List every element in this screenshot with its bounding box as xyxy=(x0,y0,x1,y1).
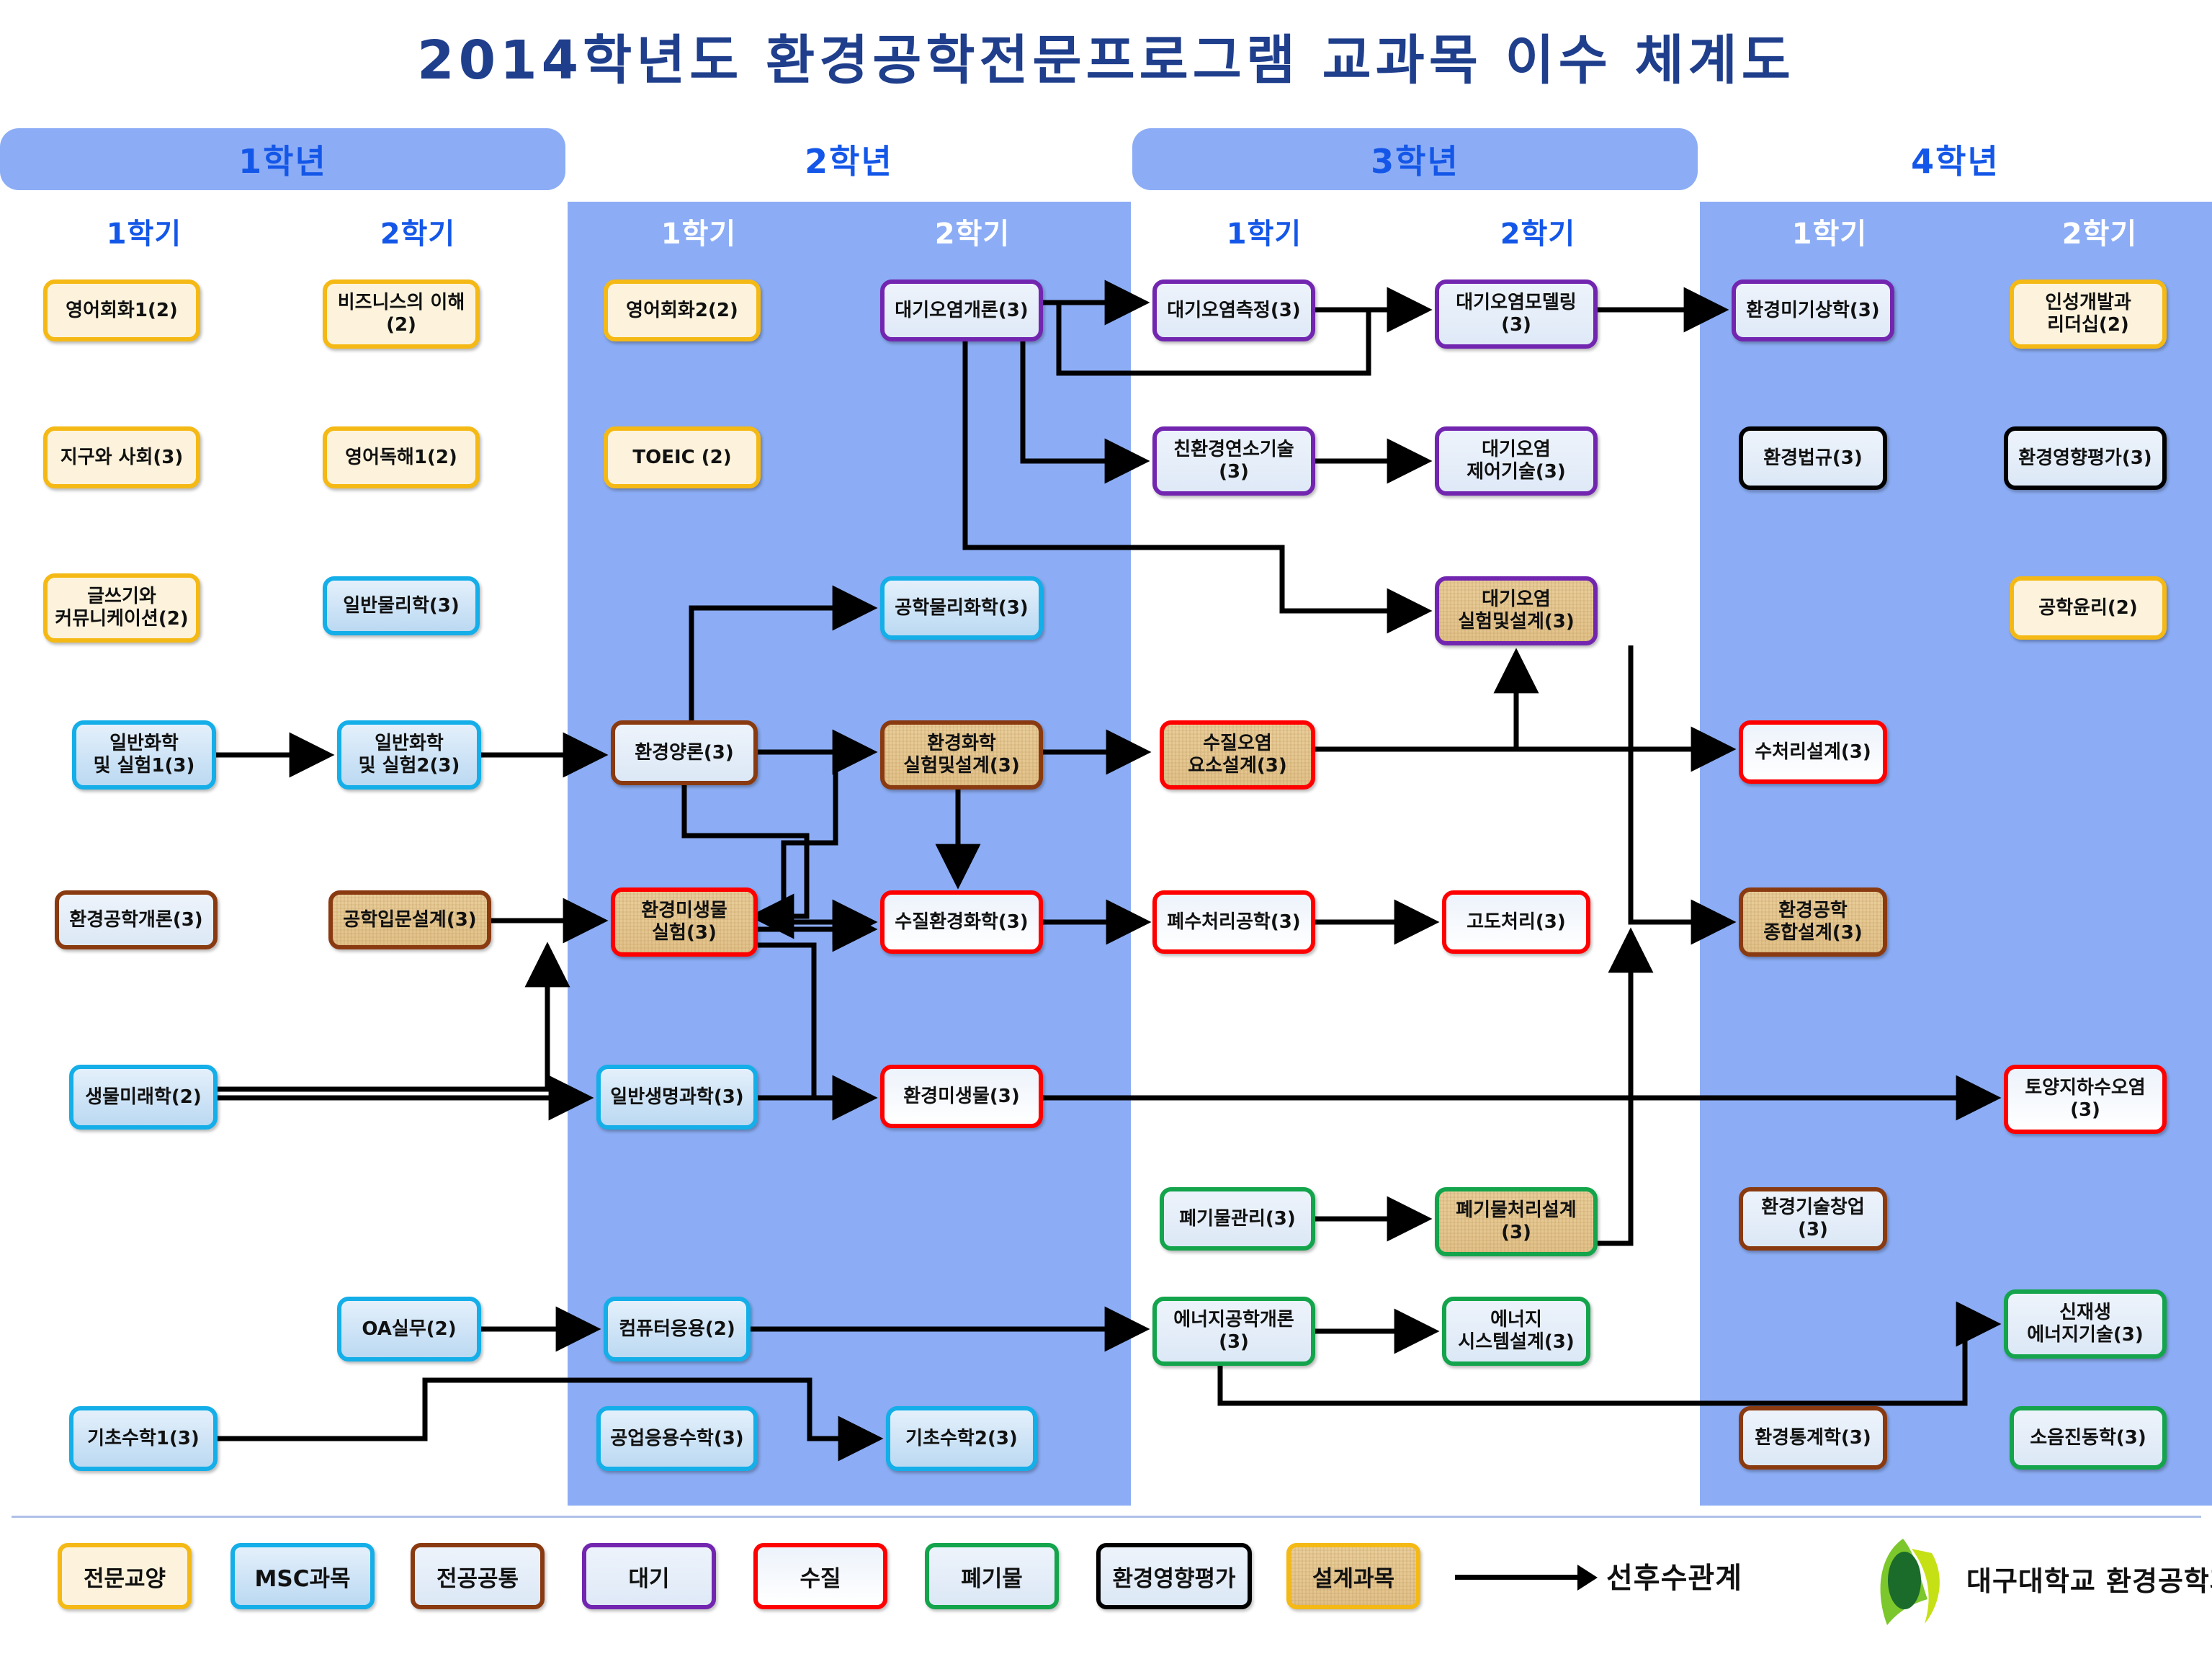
legend-common: 전공공통 xyxy=(411,1543,545,1609)
course-label: 수처리설계(3) xyxy=(1755,741,1871,764)
legend-label: 폐기물 xyxy=(961,1560,1023,1593)
course-label: 고도처리(3) xyxy=(1467,911,1566,934)
course-label: 폐수처리공학(3) xyxy=(1167,911,1300,934)
course-box[interactable]: 고도처리(3) xyxy=(1442,890,1590,954)
course-label: 기초수학1(3) xyxy=(87,1428,200,1450)
course-label: 소음진동학(3) xyxy=(2030,1427,2146,1449)
course-box[interactable]: 폐기물처리설계 (3) xyxy=(1435,1187,1598,1256)
legend-label: 대기 xyxy=(628,1560,669,1593)
course-label: 영어독해1(2) xyxy=(345,447,457,469)
course-box[interactable]: 환경기술창업(3) xyxy=(1739,1187,1887,1251)
course-label: 환경양론(3) xyxy=(635,742,734,764)
course-box[interactable]: 컴퓨터응용(2) xyxy=(604,1297,751,1361)
course-label: 환경통계학(3) xyxy=(1755,1427,1871,1449)
year-header-3: 3학년 xyxy=(1132,128,1698,190)
course-box[interactable]: 토양지하수오염 (3) xyxy=(2004,1065,2167,1134)
year-header-label: 3학년 xyxy=(1371,135,1459,183)
course-box[interactable]: 대기오염 실험및설계(3) xyxy=(1435,576,1598,645)
legend-msc: MSC과목 xyxy=(230,1543,375,1609)
legend-eia: 환경영향평가 xyxy=(1096,1543,1252,1609)
course-label: 공학물리화학(3) xyxy=(895,597,1028,620)
course-box[interactable]: 친환경연소기술 (3) xyxy=(1152,426,1315,496)
course-label: 수질환경화학(3) xyxy=(895,911,1028,934)
course-box[interactable]: 일반화학 및 실험2(3) xyxy=(337,720,481,790)
legend-arrow-head xyxy=(1577,1565,1598,1591)
course-label: 대기오염 제어기술(3) xyxy=(1467,439,1566,483)
course-box[interactable]: 글쓰기와 커뮤니케이션(2) xyxy=(43,573,200,643)
course-box[interactable]: 영어회화1(2) xyxy=(43,280,200,341)
legend-label: 설계과목 xyxy=(1312,1560,1394,1593)
course-box[interactable]: 수처리설계(3) xyxy=(1739,720,1887,784)
semester-label-6: 2학기 xyxy=(1430,210,1646,252)
course-box[interactable]: 환경화학 실험및설계(3) xyxy=(880,720,1043,790)
course-box[interactable]: 소음진동학(3) xyxy=(2010,1406,2167,1470)
arrow-29 xyxy=(1598,936,1631,1243)
course-label: 컴퓨터응용(2) xyxy=(619,1318,735,1341)
course-label: 환경미생물(3) xyxy=(903,1086,1019,1108)
course-box[interactable]: 공학물리화학(3) xyxy=(880,576,1043,640)
course-box[interactable]: 비즈니스의 이해 (2) xyxy=(323,280,480,349)
semester-label-8: 2학기 xyxy=(1992,210,2208,252)
course-box[interactable]: 공학윤리(2) xyxy=(2010,576,2167,640)
course-box[interactable]: 신재생 에너지기술(3) xyxy=(2004,1289,2167,1359)
course-box[interactable]: 폐기물관리(3) xyxy=(1160,1187,1315,1251)
course-box[interactable]: 수질환경화학(3) xyxy=(880,890,1043,954)
course-box[interactable]: 대기오염개론(3) xyxy=(880,280,1043,341)
course-label: 환경화학 실험및설계(3) xyxy=(903,733,1019,777)
course-box[interactable]: 환경통계학(3) xyxy=(1739,1406,1887,1470)
semester-label-3: 1학기 xyxy=(591,210,807,252)
course-label: 에너지 시스템설계(3) xyxy=(1458,1309,1574,1353)
university-logo xyxy=(1858,1537,1949,1629)
course-box[interactable]: 에너지공학개론 (3) xyxy=(1152,1297,1315,1366)
course-box[interactable]: 공업응용수학(3) xyxy=(596,1406,758,1471)
curriculum-flowchart: 2014학년도 환경공학전문프로그램 교과목 이수 체계도 1학년2학년3학년4… xyxy=(0,0,2212,1659)
course-label: 친환경연소기술 (3) xyxy=(1173,439,1294,483)
course-label: 대기오염측정(3) xyxy=(1167,300,1300,322)
course-label: 지구와 사회(3) xyxy=(61,447,184,469)
course-box[interactable]: 환경법규(3) xyxy=(1739,426,1887,490)
legend: 전문교양MSC과목전공공통대기수질폐기물환경영향평가설계과목 선후수관계 대구대… xyxy=(0,1533,2212,1648)
course-box[interactable]: 환경미기상학(3) xyxy=(1732,280,1894,341)
year-header-label: 1학년 xyxy=(238,135,327,183)
legend-design: 설계과목 xyxy=(1286,1543,1420,1609)
course-label: 토양지하수오염 (3) xyxy=(2025,1077,2145,1121)
course-box[interactable]: 환경양론(3) xyxy=(611,720,758,785)
course-box[interactable]: 기초수학1(3) xyxy=(69,1406,218,1471)
course-label: 환경미기상학(3) xyxy=(1746,300,1879,322)
course-box[interactable]: 에너지 시스템설계(3) xyxy=(1442,1297,1590,1366)
course-box[interactable]: OA실무(2) xyxy=(337,1297,481,1361)
legend-air: 대기 xyxy=(582,1543,716,1609)
legend-separator xyxy=(12,1516,2201,1518)
course-label: 글쓰기와 커뮤니케이션(2) xyxy=(55,586,188,630)
course-label: 환경기술창업(3) xyxy=(1747,1197,1879,1240)
arrow-5 xyxy=(218,951,547,1089)
course-label: 공학윤리(2) xyxy=(2038,597,2138,620)
course-label: 환경공학개론(3) xyxy=(69,909,202,931)
course-box[interactable]: 기초수학2(3) xyxy=(886,1406,1037,1471)
legend-label: 전문교양 xyxy=(84,1560,166,1593)
course-label: OA실무(2) xyxy=(362,1318,456,1341)
course-label: 환경공학 종합설계(3) xyxy=(1763,900,1863,944)
course-label: 인성개발과 리더십(2) xyxy=(2045,292,2131,336)
course-box[interactable]: 대기오염 제어기술(3) xyxy=(1435,426,1598,496)
page-title: 2014학년도 환경공학전문프로그램 교과목 이수 체계도 xyxy=(0,17,2212,94)
course-label: 일반물리학(3) xyxy=(343,595,459,617)
course-box[interactable]: 환경공학 종합설계(3) xyxy=(1739,887,1887,957)
course-label: 환경미생물 실험(3) xyxy=(641,900,727,944)
course-label: 환경법규(3) xyxy=(1763,447,1863,470)
course-label: 영어회화1(2) xyxy=(66,300,178,322)
legend-arrow-label: 선후수관계 xyxy=(1606,1555,1742,1596)
legend-water: 수질 xyxy=(753,1543,887,1609)
course-label: 에너지공학개론 (3) xyxy=(1173,1309,1294,1353)
course-label: 공업응용수학(3) xyxy=(610,1428,743,1450)
course-label: 신재생 에너지기술(3) xyxy=(2027,1302,2143,1346)
legend-label: 수질 xyxy=(800,1560,841,1593)
legend-waste: 폐기물 xyxy=(925,1543,1059,1609)
course-box[interactable]: 환경미생물(3) xyxy=(880,1065,1043,1128)
course-label: 폐기물관리(3) xyxy=(1179,1208,1295,1230)
semester-label-5: 1학기 xyxy=(1156,210,1372,252)
semester-label-1: 1학기 xyxy=(36,210,252,252)
year-header-label: 4학년 xyxy=(1911,135,2000,183)
course-label: 생물미래학(2) xyxy=(85,1086,201,1109)
course-label: 폐기물처리설계 (3) xyxy=(1456,1199,1576,1243)
course-box[interactable]: 환경공학개론(3) xyxy=(55,890,218,949)
course-label: 비즈니스의 이해 (2) xyxy=(338,292,465,336)
legend-label: 환경영향평가 xyxy=(1112,1560,1235,1593)
semester-label-7: 1학기 xyxy=(1721,210,1938,252)
course-label: TOEIC (2) xyxy=(632,447,731,469)
year-header-4: 4학년 xyxy=(1698,128,2212,190)
course-box[interactable]: 공학입문설계(3) xyxy=(328,890,491,949)
course-label: 일반화학 및 실험2(3) xyxy=(359,733,460,777)
course-label: 대기오염 실험및설계(3) xyxy=(1458,589,1574,632)
legend-label: 전공공통 xyxy=(436,1560,519,1593)
course-label: 수질오염 요소설계(3) xyxy=(1188,733,1287,777)
year-header-2: 2학년 xyxy=(566,128,1132,190)
course-label: 기초수학2(3) xyxy=(905,1428,1018,1450)
year-header-label: 2학년 xyxy=(805,135,893,183)
course-box[interactable]: 인성개발과 리더십(2) xyxy=(2010,280,2167,349)
course-box[interactable]: 일반물리학(3) xyxy=(323,576,480,635)
semester-label-4: 2학기 xyxy=(864,210,1080,252)
course-label: 대기오염모델링 (3) xyxy=(1456,292,1576,336)
course-box[interactable]: 지구와 사회(3) xyxy=(43,426,200,488)
course-box[interactable]: 영어회화2(2) xyxy=(604,280,761,341)
course-label: 영어회화2(2) xyxy=(626,300,738,322)
course-box[interactable]: 일반화학 및 실험1(3) xyxy=(72,720,216,790)
year-header-1: 1학년 xyxy=(0,128,565,190)
course-box[interactable]: TOEIC (2) xyxy=(604,426,761,488)
course-box[interactable]: 환경미생물 실험(3) xyxy=(611,887,758,957)
course-box[interactable]: 대기오염모델링 (3) xyxy=(1435,280,1598,349)
course-box[interactable]: 수질오염 요소설계(3) xyxy=(1160,720,1315,790)
department-label: 대구대학교 환경공학과 xyxy=(1966,1559,2212,1598)
course-label: 대기오염개론(3) xyxy=(895,300,1028,322)
legend-liberal: 전문교양 xyxy=(58,1543,192,1609)
course-box[interactable]: 생물미래학(2) xyxy=(69,1065,218,1130)
legend-label: MSC과목 xyxy=(255,1560,351,1593)
course-label: 일반생명과학(3) xyxy=(610,1086,743,1109)
course-box[interactable]: 폐수처리공학(3) xyxy=(1152,890,1315,954)
course-box[interactable]: 환경영향평가(3) xyxy=(2004,426,2167,490)
course-label: 공학입문설계(3) xyxy=(343,909,476,931)
semester-label-2: 2학기 xyxy=(310,210,526,252)
legend-arrow-line xyxy=(1455,1575,1577,1580)
course-label: 일반화학 및 실험1(3) xyxy=(94,733,195,777)
course-box[interactable]: 일반생명과학(3) xyxy=(596,1065,758,1130)
course-label: 환경영향평가(3) xyxy=(2018,447,2151,470)
course-box[interactable]: 영어독해1(2) xyxy=(323,426,480,488)
course-box[interactable]: 대기오염측정(3) xyxy=(1152,280,1315,341)
